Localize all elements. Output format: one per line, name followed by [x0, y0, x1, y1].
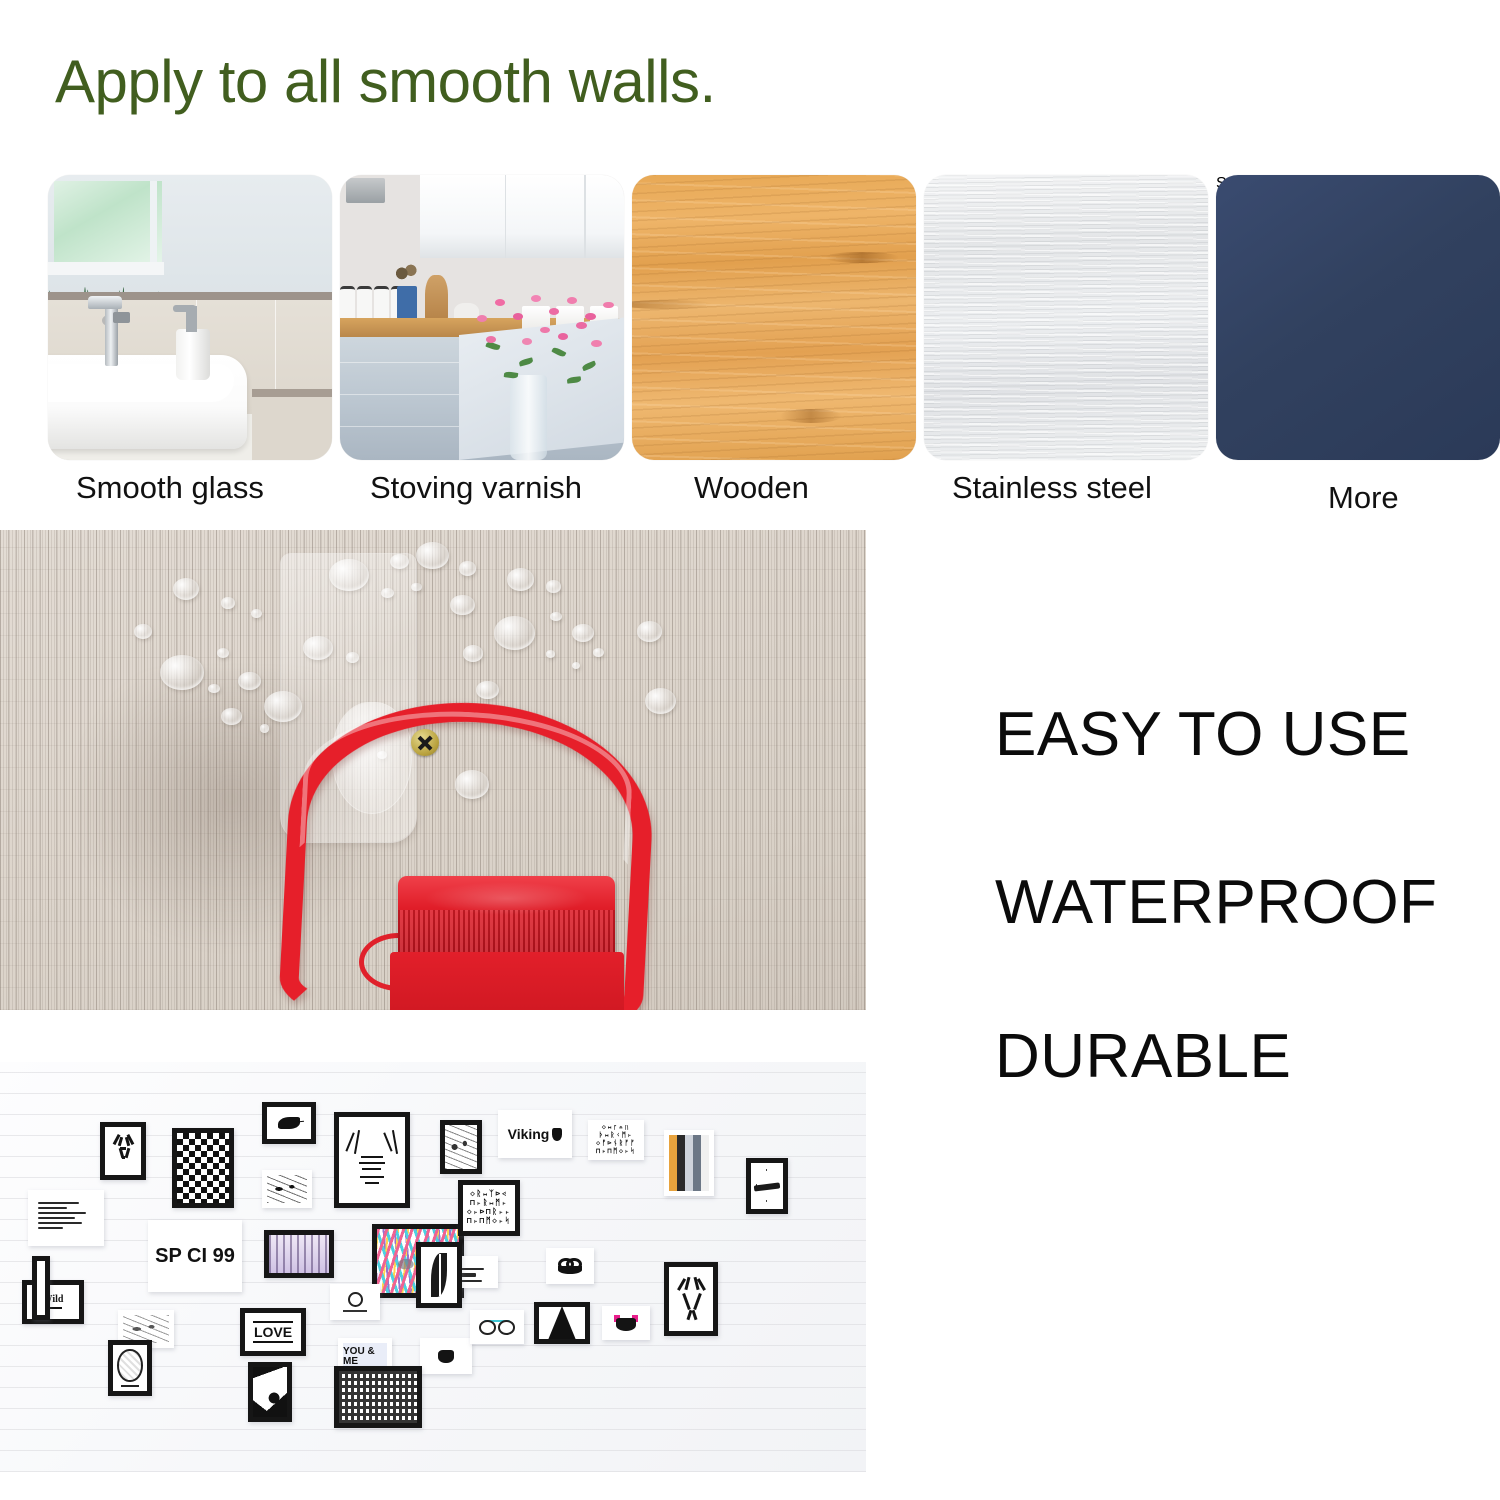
frame-clock-banner — [746, 1158, 788, 1214]
surface-tile-wooden[interactable] — [632, 175, 916, 460]
frame-diamond-pattern — [172, 1128, 234, 1208]
spci99-text: SP CI 99 — [155, 1246, 235, 1266]
frame-calligraphy-note — [28, 1190, 104, 1246]
caption-wooden: Wooden — [694, 470, 809, 506]
frame-forest-scene — [334, 1366, 422, 1428]
frame-geometric-stag — [664, 1262, 718, 1336]
frame-reindeer-small — [420, 1338, 472, 1374]
surface-tile-stainless-steel[interactable] — [924, 175, 1208, 460]
frame-circle-minimal — [330, 1284, 380, 1320]
caption-smooth-glass: Smooth glass — [76, 470, 264, 506]
frame-deer-head — [100, 1122, 146, 1180]
wood-swatch — [632, 175, 916, 460]
you-and-me-text: YOU & ME — [343, 1347, 387, 1367]
red-bottle-body — [390, 952, 624, 1010]
steel-swatch — [924, 175, 1208, 460]
frame-abstract-shapes — [248, 1362, 292, 1422]
frame-abstract-b — [440, 1120, 482, 1174]
viking-text: Viking — [508, 1127, 550, 1141]
frame-spci99: SP CI 99 — [148, 1220, 242, 1292]
page-title: Apply to all smooth walls. — [55, 46, 716, 118]
frame-viking-logo: Viking — [498, 1110, 572, 1158]
surface-tile-stoving-varnish[interactable] — [340, 175, 624, 460]
frame-mustache-glasses — [546, 1248, 594, 1284]
frame-color-checker — [664, 1130, 714, 1196]
frame-dog-face — [602, 1306, 650, 1340]
surface-tile-smooth-glass[interactable] — [48, 175, 332, 460]
caption-stainless-steel: Stainless steel — [952, 470, 1152, 506]
frame-love-arrows: LOVE — [240, 1308, 306, 1356]
frame-purple-forest — [264, 1230, 334, 1278]
surface-tile-row: Smooth walls — [48, 175, 1458, 460]
product-infographic: Apply to all smooth walls. — [0, 0, 1500, 1500]
red-bottle-cap — [398, 876, 615, 958]
feature-waterproof: WATERPROOF — [995, 868, 1437, 938]
frame-rune-alphabet: ◇ᚱ⋈ᛉ⊳⋖⊓⊦ᚱ⋈ᛗ⊦◇⊦⊳⊓ᚱ⊦⊦⊓⊦⊓ᛗ◇⊦ᛋ — [458, 1180, 520, 1236]
love-text: LOVE — [254, 1325, 292, 1339]
surface-tile-more[interactable]: Smooth walls — [1216, 175, 1500, 460]
hook-demo-photo — [0, 530, 866, 1010]
caption-more: More — [1328, 480, 1399, 516]
frame-bicycle — [470, 1310, 524, 1344]
gallery-wall-photo: Viking ◇⋈ᚠ⋔ᚢᚦ⋈ᚱᚲᛗ⊦◇ᚠ⊳ᚾᚱᚠᚠ⊓⊦⊓ᛗ◇⊦ᛋ — [0, 1062, 866, 1472]
caption-stoving-varnish: Stoving varnish — [370, 470, 582, 506]
feature-easy-to-use: EASY TO USE — [995, 700, 1411, 770]
screw-icon — [411, 729, 439, 756]
frame-edge-left — [32, 1256, 50, 1320]
frame-feather-leaf — [416, 1242, 462, 1308]
bathroom-photo — [48, 175, 332, 460]
frame-circle-text — [108, 1340, 152, 1396]
frame-scribble-tree — [262, 1170, 312, 1208]
frame-antlers-quote — [334, 1112, 410, 1208]
feature-durable: DURABLE — [995, 1022, 1291, 1092]
frame-rune-grid: ◇⋈ᚠ⋔ᚢᚦ⋈ᚱᚲᛗ⊦◇ᚠ⊳ᚾᚱᚠᚠ⊓⊦⊓ᛗ◇⊦ᛋ — [588, 1120, 644, 1160]
frame-bird-silhouette — [262, 1102, 316, 1144]
frame-pine-tree — [534, 1302, 590, 1344]
navy-swatch — [1216, 175, 1500, 460]
kitchen-photo — [340, 175, 624, 460]
